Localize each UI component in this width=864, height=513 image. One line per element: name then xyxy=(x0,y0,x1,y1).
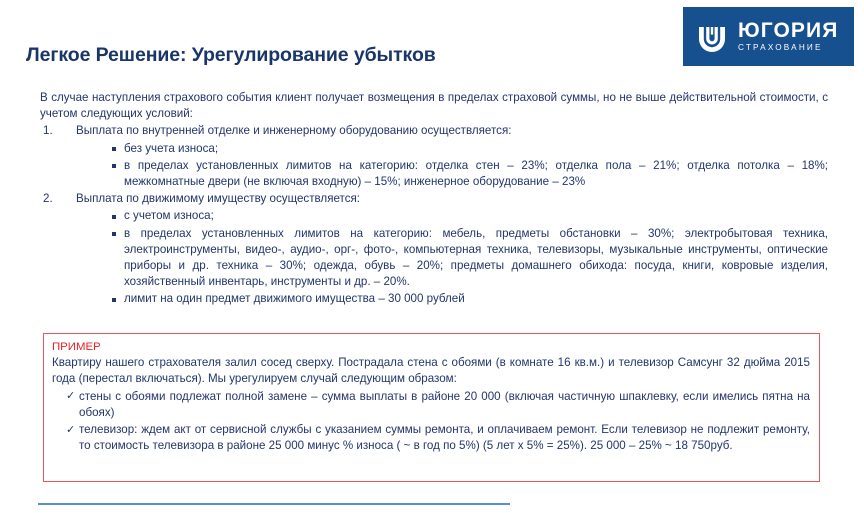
list-item: в пределах установленных лимитов на кате… xyxy=(112,158,828,190)
numbered-item-1: 1. Выплата по внутренней отделке и инжен… xyxy=(40,123,828,139)
example-callout-box: ПРИМЕР Квартиру нашего страхователя зали… xyxy=(43,333,820,482)
example-check-list: стены с обоями подлежат полной замене – … xyxy=(52,389,810,455)
example-lead-paragraph: Квартиру нашего страхователя залил сосед… xyxy=(52,355,810,387)
company-logo: ЮГОРИЯ СТРАХОВАНИЕ xyxy=(683,7,854,66)
logo-brand: ЮГОРИЯ xyxy=(738,20,838,41)
slide: ЮГОРИЯ СТРАХОВАНИЕ Легкое Решение: Урегу… xyxy=(0,0,864,513)
list-item: в пределах установленных лимитов на кате… xyxy=(112,226,828,291)
list-item: без учета износа; xyxy=(112,141,828,157)
bullet-list-1: без учета износа; в пределах установленн… xyxy=(40,141,828,191)
logo-text-block: ЮГОРИЯ СТРАХОВАНИЕ xyxy=(738,20,838,52)
yugoria-u-mark-icon xyxy=(695,20,729,54)
list-item: стены с обоями подлежат полной замене – … xyxy=(66,389,810,421)
example-heading: ПРИМЕР xyxy=(52,339,810,355)
logo-tagline: СТРАХОВАНИЕ xyxy=(738,44,838,52)
numbered-item-2: 2. Выплата по движимому имуществу осущес… xyxy=(40,191,828,207)
slide-body: В случае наступления страхового события … xyxy=(40,90,828,308)
footer-divider xyxy=(38,503,510,505)
bullet-list-2: с учетом износа; в пределах установленны… xyxy=(40,208,828,307)
numbered-item-text: Выплата по внутренней отделке и инженерн… xyxy=(76,124,511,137)
list-item: лимит на один предмет движимого имуществ… xyxy=(112,291,828,307)
numbered-item-text: Выплата по движимому имуществу осуществл… xyxy=(76,192,360,205)
list-item: телевизор: ждем акт от сервисной службы … xyxy=(66,422,810,454)
intro-paragraph: В случае наступления страхового события … xyxy=(40,90,828,122)
list-item: с учетом износа; xyxy=(112,208,828,224)
list-number: 2. xyxy=(43,191,53,207)
list-number: 1. xyxy=(43,123,53,139)
page-title: Легкое Решение: Урегулирование убытков xyxy=(26,44,436,67)
